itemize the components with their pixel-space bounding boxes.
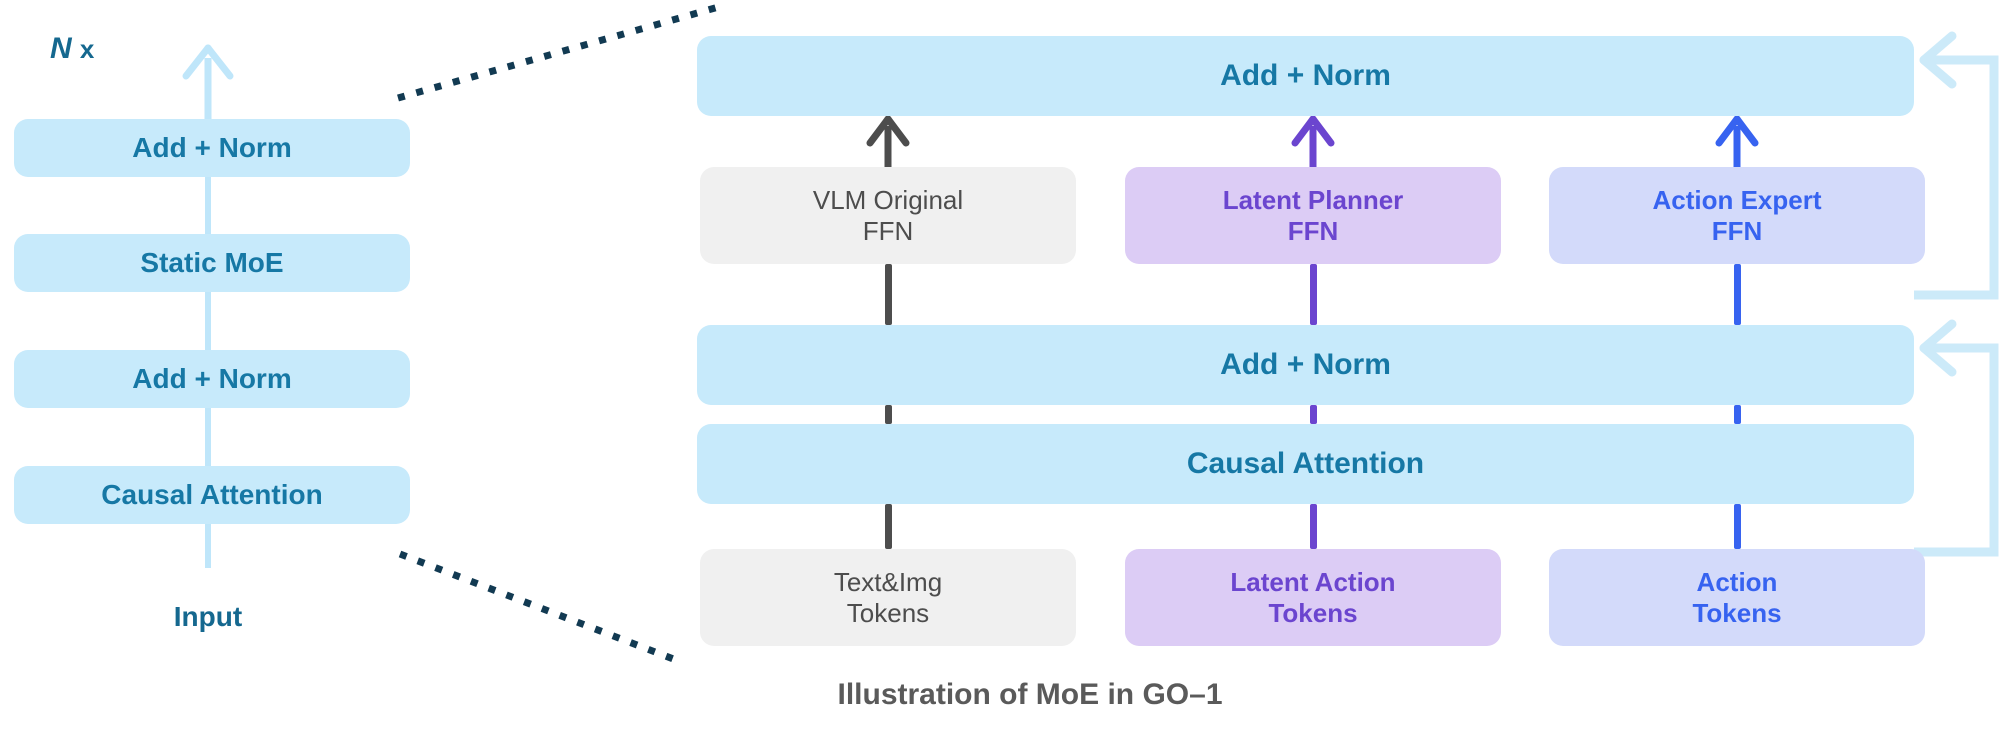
token-box-latent-action-tokens[interactable]: Latent ActionTokens (1125, 549, 1501, 646)
residual-path-upper (1914, 60, 1994, 295)
right-block-add-norm-top[interactable]: Add + Norm (697, 36, 1914, 116)
token-label-line2: Tokens (1230, 598, 1395, 629)
stem-causal-to-latent-tokens (1310, 504, 1317, 549)
token-label-line2: Tokens (834, 598, 942, 629)
expert-label-line2: FFN (1223, 216, 1404, 247)
expert-box-vlm-original-ffn[interactable]: VLM OriginalFFN (700, 167, 1076, 264)
figure-canvas: N x Add + Norm Static MoE Add + Norm Cau… (0, 0, 2014, 748)
arrow-up-icon-vlm (866, 116, 910, 168)
token-label-line1: Text&Img (834, 567, 942, 597)
expert-label-line2: FFN (813, 216, 963, 247)
stem-addnorm-to-causal-vlm (885, 405, 892, 424)
expert-label-line1: Action Expert (1652, 185, 1821, 215)
stem-latent-to-addnorm (1310, 264, 1317, 325)
expert-box-action-expert-ffn[interactable]: Action ExpertFFN (1549, 167, 1925, 264)
arrow-up-icon-action-expert (1715, 116, 1759, 168)
arrow-up-icon-latent-planner (1291, 116, 1335, 168)
stem-causal-to-action-tokens (1734, 504, 1741, 549)
stem-addnorm-to-causal-action (1734, 405, 1741, 424)
stem-vlm-to-addnorm (885, 264, 892, 325)
token-box-action-tokens[interactable]: ActionTokens (1549, 549, 1925, 646)
stem-addnorm-to-causal-latent (1310, 405, 1317, 424)
token-label-line2: Tokens (1692, 598, 1781, 629)
token-label-line1: Action (1697, 567, 1778, 597)
right-moe-detail-panel: Add + Norm Add + Norm Causal Attention V… (0, 0, 2014, 700)
token-box-text-img-tokens[interactable]: Text&ImgTokens (700, 549, 1076, 646)
stem-action-to-addnorm (1734, 264, 1741, 325)
stem-causal-to-text-tokens (885, 504, 892, 549)
expert-label-line2: FFN (1652, 216, 1821, 247)
expert-box-latent-planner-ffn[interactable]: Latent PlannerFFN (1125, 167, 1501, 264)
right-block-causal-attention[interactable]: Causal Attention (697, 424, 1914, 504)
figure-caption: Illustration of MoE in GO–1 (680, 678, 1380, 712)
expert-label-line1: Latent Planner (1223, 185, 1404, 215)
token-label-line1: Latent Action (1230, 567, 1395, 597)
residual-path-lower (1914, 348, 1994, 552)
expert-label-line1: VLM Original (813, 185, 963, 215)
right-block-add-norm-mid[interactable]: Add + Norm (697, 325, 1914, 405)
